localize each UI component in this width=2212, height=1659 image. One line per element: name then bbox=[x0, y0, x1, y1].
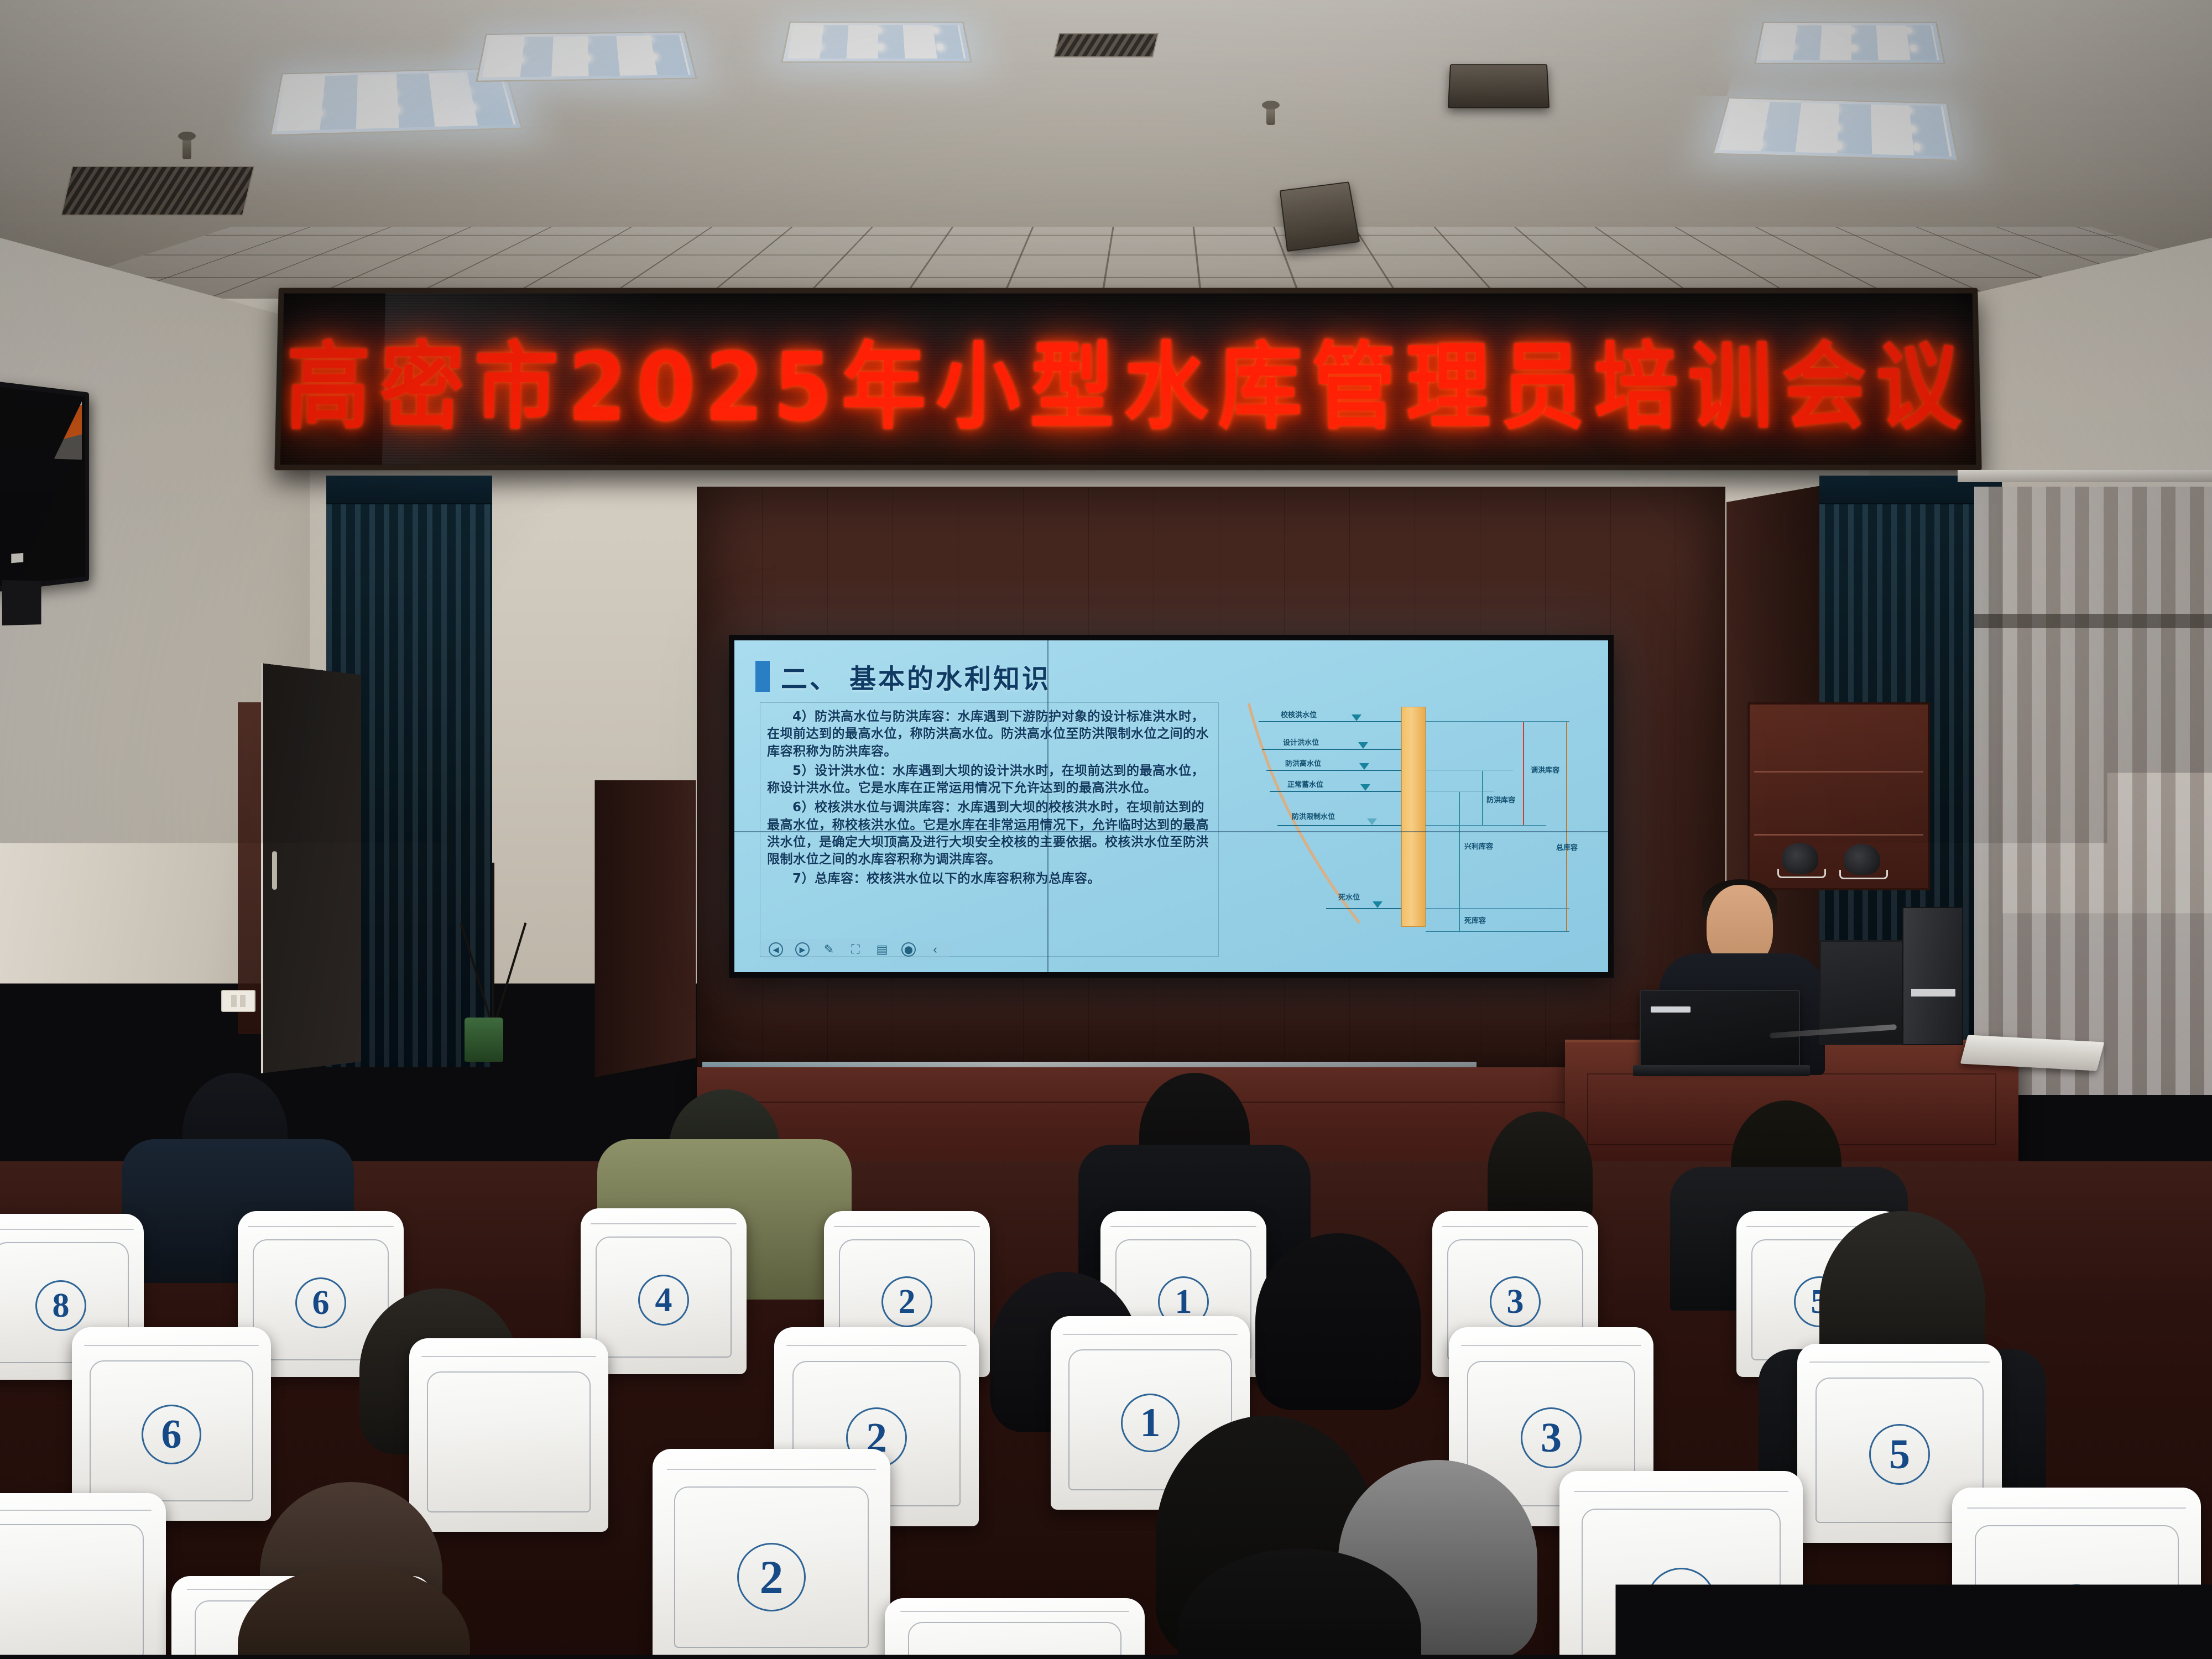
seat-number: 4 bbox=[638, 1275, 689, 1326]
slide-paragraph-5: 5）设计洪水位：水库遇到大坝的设计洪水时，在坝前达到的最高水位，称设计洪水位。它… bbox=[767, 763, 1212, 797]
seat-number: 1 bbox=[1121, 1394, 1180, 1452]
air-vent-1 bbox=[61, 166, 255, 216]
conference-room-scene: 高密市2025年小型水库管理员培训会议 HIKVISION HIKVISI bbox=[0, 0, 2212, 1659]
capacity-bar-tiaohong bbox=[1523, 722, 1524, 825]
level-marker-3 bbox=[1359, 763, 1369, 770]
stage-wall-left-return bbox=[594, 488, 696, 1077]
slide-seam-horizontal bbox=[734, 831, 1608, 832]
chair-seam bbox=[421, 1356, 597, 1357]
more-icon[interactable]: ⬤ bbox=[901, 942, 916, 957]
capacity-bar-xingli bbox=[1459, 792, 1460, 909]
level-label-fanghong-gao: 防洪高水位 bbox=[1285, 758, 1321, 768]
level-marker-2 bbox=[1358, 742, 1368, 749]
capacity-label-si: 死库容 bbox=[1464, 915, 1486, 925]
seat-number: 8 bbox=[35, 1280, 86, 1331]
level-marker-1 bbox=[1352, 714, 1361, 721]
level-marker-4 bbox=[1360, 784, 1370, 791]
wall-mounted-tv[interactable] bbox=[0, 381, 89, 592]
collapse-icon[interactable]: ‹ bbox=[928, 942, 942, 957]
chair-seam bbox=[0, 1510, 152, 1511]
slide-title: 基本的水利知识 bbox=[849, 657, 1051, 696]
level-line-2 bbox=[1262, 749, 1401, 750]
level-line-3 bbox=[1266, 770, 1401, 771]
level-marker-6 bbox=[1373, 901, 1383, 908]
chair-row3-mid[interactable] bbox=[885, 1598, 1145, 1659]
right-ref-line-3 bbox=[1426, 791, 1494, 791]
curtain-rail bbox=[1958, 470, 2212, 482]
ceiling-light-4 bbox=[1754, 22, 1946, 65]
ceiling-speaker bbox=[1448, 64, 1550, 108]
slide-paragraph-6: 6）校核洪水位与调洪库容：水库遇到大坝的校核洪水时，在坝前达到的最高水位，称校核… bbox=[767, 799, 1212, 868]
wall-outlet bbox=[221, 990, 255, 1012]
capacity-label-fanghong: 防洪库容 bbox=[1486, 794, 1515, 805]
slide-content: 二、 基本的水利知识 4）防洪高水位与防洪库容：水库遇到下游防护对象的设计标准洪… bbox=[734, 640, 1608, 972]
ptz-camera-right bbox=[1844, 844, 1880, 875]
chair-row2-4[interactable]: 4 bbox=[409, 1338, 608, 1532]
chair-seam bbox=[834, 1226, 980, 1227]
tv-screen-reflection bbox=[54, 399, 82, 460]
door-handle[interactable] bbox=[272, 851, 277, 890]
slide-title-accent-bar bbox=[755, 661, 770, 692]
seat-number: 3 bbox=[1646, 1568, 1716, 1637]
presentation-slide: 二、 基本的水利知识 4）防洪高水位与防洪库容：水库遇到下游防护对象的设计标准洪… bbox=[734, 640, 1608, 972]
right-ref-line-5 bbox=[1426, 908, 1569, 909]
slide-paragraph-4: 4）防洪高水位与防洪库容：水库遇到下游防护对象的设计标准洪水时，在坝前达到的最高… bbox=[767, 708, 1212, 760]
prev-icon[interactable]: ◀ bbox=[769, 942, 783, 957]
right-ref-line-6 bbox=[1426, 931, 1569, 932]
slide-title-prefix: 二、 bbox=[781, 657, 838, 696]
sheer-window-curtain bbox=[1974, 487, 2212, 1095]
chair-seam bbox=[1110, 1226, 1256, 1227]
sprinkler-head-icon-2 bbox=[1266, 106, 1275, 125]
right-ref-line-4 bbox=[1426, 825, 1546, 826]
chair-seam bbox=[0, 1229, 134, 1230]
chair-seam bbox=[786, 1345, 967, 1346]
chair-row3-3[interactable]: 3 bbox=[1559, 1471, 1803, 1659]
play-icon[interactable]: ▶ bbox=[795, 942, 810, 957]
chair-row3-left[interactable] bbox=[0, 1493, 166, 1659]
slide-paragraph-7: 7）总库容：校核洪水位以下的水库容积称为总库容。 bbox=[767, 870, 1212, 888]
trash-bin bbox=[465, 1018, 503, 1062]
level-label-zhengchang: 正常蓄水位 bbox=[1287, 779, 1323, 789]
chair-row3-2[interactable]: 2 bbox=[653, 1449, 890, 1659]
sprinkler-head-icon bbox=[182, 137, 191, 159]
capacity-label-tiaohong: 调洪库容 bbox=[1531, 764, 1559, 775]
tv-logo bbox=[11, 553, 23, 563]
air-vent-2 bbox=[1053, 33, 1159, 58]
chair-seam bbox=[667, 1469, 876, 1470]
seat-number: 5 bbox=[1869, 1424, 1930, 1485]
capacity-label-zong: 总库容 bbox=[1556, 842, 1578, 852]
curtain-left-header bbox=[326, 476, 492, 504]
seat-number: 3 bbox=[1490, 1276, 1541, 1327]
pc-drive-slot bbox=[1911, 989, 1955, 997]
side-door[interactable] bbox=[261, 663, 361, 1073]
camera-tripod bbox=[492, 863, 494, 1029]
capacity-bar-zong bbox=[1566, 722, 1567, 931]
cabinet-shelf-1 bbox=[1754, 771, 1923, 773]
chair-seam bbox=[1461, 1345, 1641, 1346]
ptz-camera-left bbox=[1782, 843, 1818, 874]
seat-number: 2 bbox=[737, 1543, 806, 1611]
led-banner: 高密市2025年小型水库管理员培训会议 bbox=[274, 288, 1982, 471]
ceiling-light-2 bbox=[476, 32, 697, 82]
level-line-5 bbox=[1277, 825, 1401, 826]
chair-seam bbox=[591, 1223, 737, 1224]
led-banner-text: 高密市2025年小型水库管理员培训会议 bbox=[285, 311, 1972, 447]
right-ref-line-2 bbox=[1426, 770, 1513, 770]
level-line-1 bbox=[1259, 721, 1401, 722]
slide-view-icon[interactable]: ▤ bbox=[875, 942, 889, 957]
presenter-laptop[interactable] bbox=[1640, 990, 1800, 1067]
video-wall[interactable]: HIKVISION HIKVISION HIKVISION 二、 基本的水利知识 bbox=[729, 635, 1614, 978]
chair-seam bbox=[1967, 1507, 2186, 1509]
level-label-sheji: 设计洪水位 bbox=[1283, 737, 1319, 747]
chair-row2-6[interactable]: 6 bbox=[72, 1327, 271, 1521]
slide-title-row: 二、 基本的水利知识 bbox=[755, 657, 1594, 696]
pc-tower[interactable] bbox=[1902, 907, 1963, 1045]
tv-bracket bbox=[2, 580, 41, 625]
level-marker-5 bbox=[1367, 818, 1377, 825]
level-label-sishuiwei: 死水位 bbox=[1338, 891, 1360, 902]
led-banner-frame: 高密市2025年小型水库管理员培训会议 bbox=[274, 288, 1982, 471]
pen-icon[interactable]: ✎ bbox=[822, 942, 836, 957]
ceiling-light-5 bbox=[1712, 97, 1959, 161]
ceiling-projector-mount bbox=[1280, 181, 1360, 252]
equipment-cabinet bbox=[1747, 702, 1930, 890]
laptop-base bbox=[1633, 1065, 1810, 1076]
chair-seam bbox=[1442, 1226, 1588, 1227]
reservoir-level-diagram: 校核洪水位 设计洪水位 防洪高水位 正常蓄水位 防洪限制水位 死水位 bbox=[1243, 693, 1586, 953]
laptop-brand-logo bbox=[1651, 1006, 1691, 1013]
chair-seam bbox=[248, 1226, 394, 1227]
ceiling-light-3 bbox=[781, 22, 972, 62]
presentation-toolbar[interactable]: ◀ ▶ ✎ ⛶ ▤ ⬤ ‹ bbox=[759, 939, 952, 960]
attendee-mid-3 bbox=[1255, 1233, 1421, 1410]
chair-hem bbox=[0, 1524, 144, 1657]
seat-number: 3 bbox=[1521, 1407, 1582, 1468]
slide-body-text: 4）防洪高水位与防洪库容：水库遇到下游防护对象的设计标准洪水时，在坝前达到的最高… bbox=[760, 702, 1219, 957]
chair-seam bbox=[900, 1611, 1129, 1612]
level-label-jiaohe: 校核洪水位 bbox=[1281, 709, 1317, 719]
chair-seam bbox=[1809, 1361, 1990, 1363]
chair-seam bbox=[1574, 1491, 1788, 1492]
level-label-xianzhi: 防洪限制水位 bbox=[1292, 811, 1335, 821]
slide-seam-vertical bbox=[1047, 640, 1048, 972]
attendee-back-5-shoulders bbox=[2013, 1150, 2212, 1305]
level-line-4 bbox=[1270, 791, 1401, 792]
seat-number: 6 bbox=[142, 1405, 201, 1464]
chair-seam bbox=[84, 1345, 259, 1346]
capacity-bar-si bbox=[1459, 909, 1460, 932]
seat-number: 2 bbox=[881, 1276, 932, 1327]
capacity-label-xingli: 兴利库容 bbox=[1464, 841, 1493, 851]
capacity-bar-fanghong bbox=[1482, 771, 1483, 825]
seat-number: 5 bbox=[2042, 1584, 2111, 1654]
cabinet-shelf-2 bbox=[1754, 834, 1923, 836]
chair-row3-5[interactable]: 5 bbox=[1952, 1488, 2201, 1659]
chair-hem bbox=[908, 1622, 1121, 1659]
laser-icon[interactable]: ⛶ bbox=[848, 942, 863, 957]
chair-seam bbox=[1063, 1334, 1238, 1335]
level-line-6 bbox=[1326, 908, 1401, 909]
right-ref-line-1 bbox=[1426, 721, 1569, 722]
seat-number: 6 bbox=[295, 1277, 346, 1328]
